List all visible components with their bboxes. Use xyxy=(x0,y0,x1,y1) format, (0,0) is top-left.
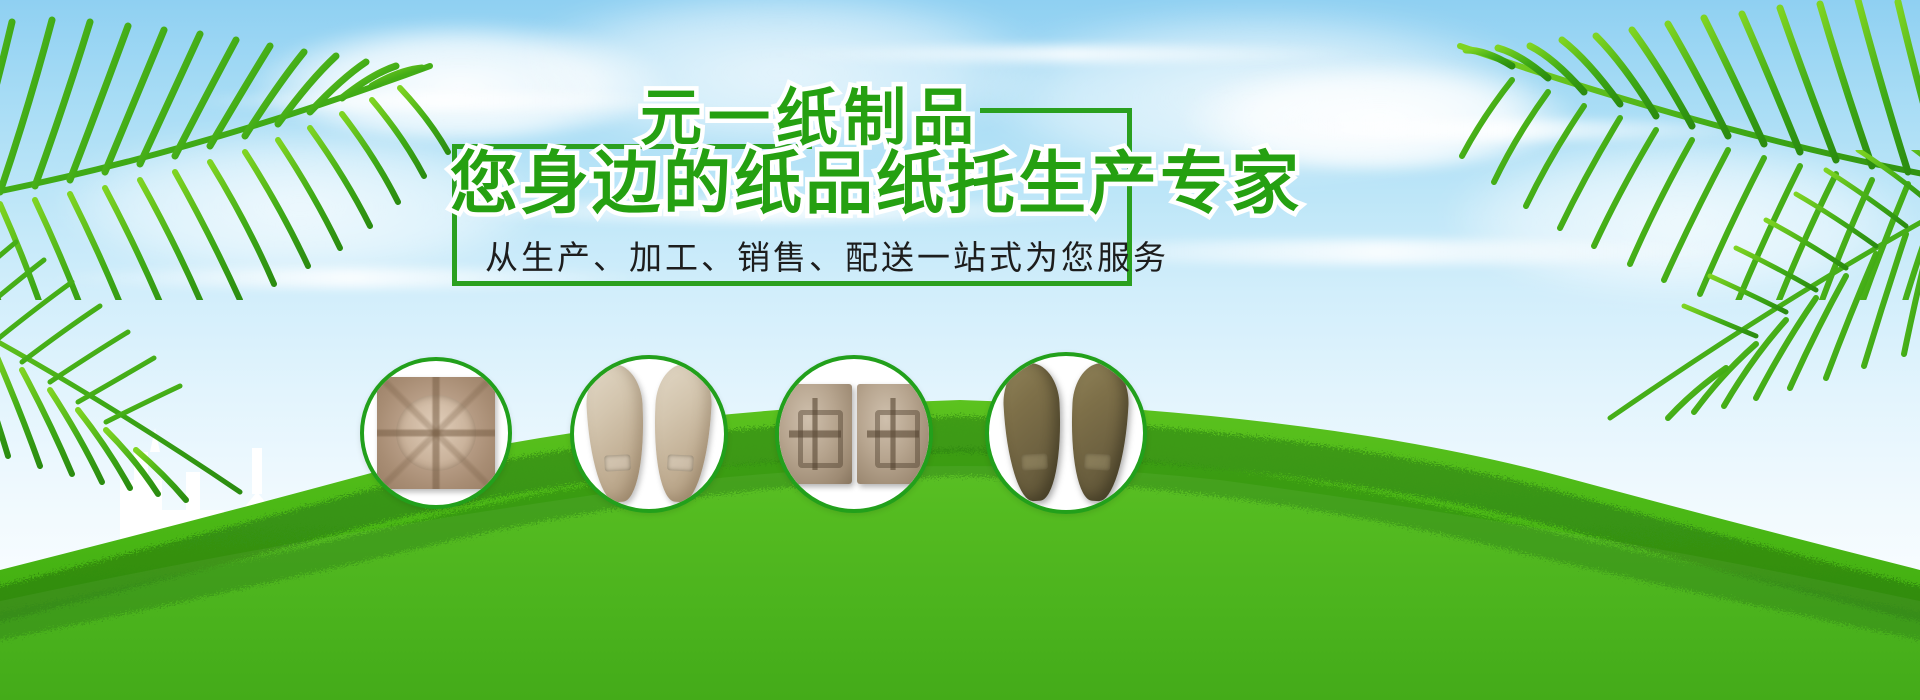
product-circle-4[interactable] xyxy=(985,352,1147,514)
molded-pulp-corner-blocks-icon xyxy=(779,384,929,484)
product-circle-1[interactable] xyxy=(360,357,512,509)
pulp-shoe-tree-dark-icon xyxy=(1001,363,1131,503)
promo-banner: 元一纸制品 您身边的纸品纸托生产专家 从生产、加工、销售、配送一站式为您服务 xyxy=(0,0,1920,700)
molded-pulp-tray-icon xyxy=(377,377,495,489)
pulp-shoe-tree-light-icon xyxy=(584,364,714,504)
product-circle-3[interactable] xyxy=(775,355,933,513)
product-showcase xyxy=(0,0,1920,700)
product-circle-2[interactable] xyxy=(570,355,728,513)
